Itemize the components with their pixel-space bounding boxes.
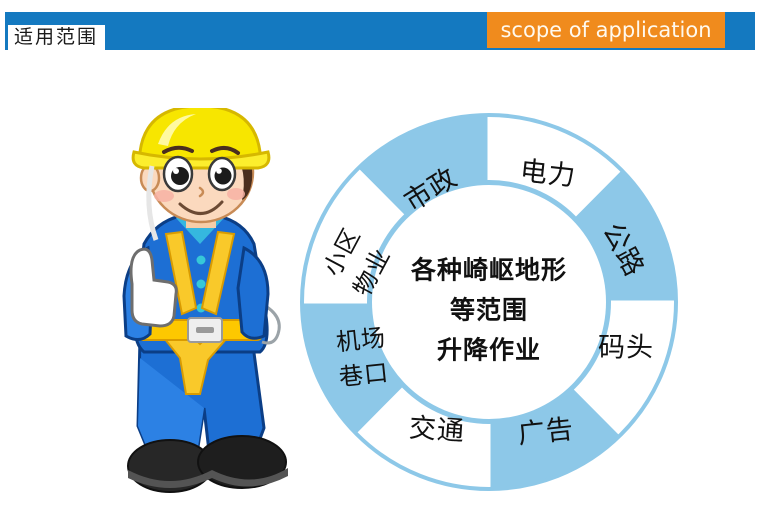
worker-cheek-right [227, 188, 245, 200]
worker-belt-buckle-slot [196, 327, 214, 333]
worker-button-1 [197, 256, 206, 265]
donut-label-matou: 码头 [598, 333, 654, 364]
worker-eye-glint-left [173, 168, 179, 174]
worker-arm-right [238, 248, 268, 338]
worker-button-2 [197, 280, 206, 289]
donut-label-jichang-line2: 巷口 [338, 358, 391, 391]
donut-center-line-1: 各种崎岖地形 [410, 256, 567, 285]
donut-label-jichang-line1: 机场 [335, 323, 388, 356]
worker-eye-glint-right [216, 168, 222, 174]
page-title-box: 适用范围 [8, 25, 105, 50]
donut-label-jiaotong: 交通 [408, 413, 466, 448]
donut-center-line-2: 等范围 [450, 296, 528, 325]
donut-label-dianli: 电力 [519, 156, 578, 193]
donut-label-guanggao: 广告 [517, 414, 576, 451]
scope-donut-chart: 市政 电力 公路 码头 广告 交通 机场 巷口 小区 物业 各种崎岖地形 等范围… [296, 112, 682, 492]
donut-center-line-3: 升降作业 [437, 336, 541, 365]
worker-illustration [92, 108, 307, 498]
page-title: 适用范围 [14, 28, 98, 47]
header-english-label: scope of application [500, 20, 711, 41]
header-english-badge: scope of application [487, 12, 725, 48]
worker-cheek-left [154, 190, 174, 202]
